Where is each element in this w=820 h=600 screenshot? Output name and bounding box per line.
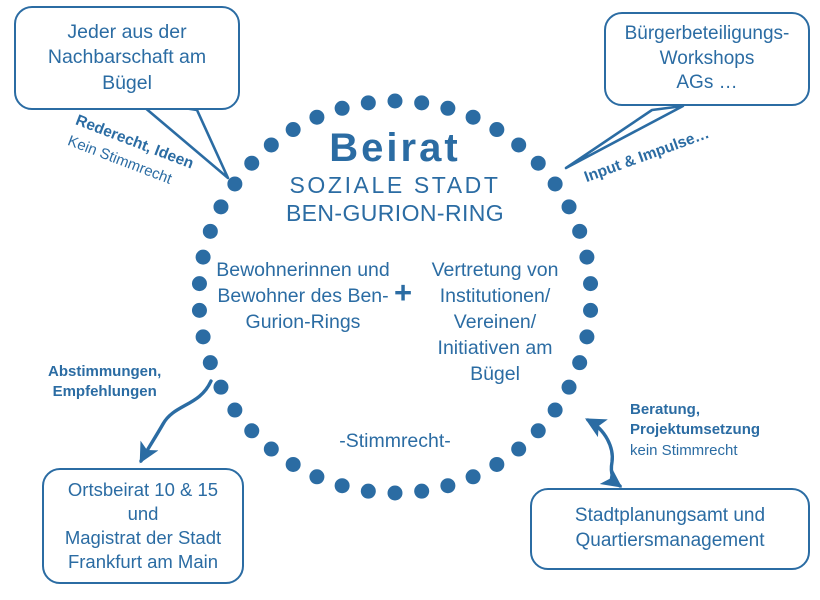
bubble-ortsbeirat-line3: Magistrat der Stadt xyxy=(65,526,221,550)
bubble-stadtplanungsamt[interactable]: Stadtplanungsamt und Quartiersmanagement xyxy=(530,488,810,570)
circle-dot xyxy=(361,95,376,110)
bubble-ortsbeirat-line4: Frankfurt am Main xyxy=(68,550,218,574)
circle-dot xyxy=(203,224,218,239)
annotation-abstimmungen: Abstimmungen, Empfehlungen xyxy=(48,362,161,403)
bubble-participation-line2: Workshops xyxy=(660,47,755,72)
circle-dot xyxy=(203,355,218,370)
page-subtitle-secondary: BEN-GURION-RING xyxy=(230,200,560,227)
members-institutions-line2: von xyxy=(527,259,558,281)
circle-dot xyxy=(531,423,546,438)
circle-dot xyxy=(335,478,350,493)
circle-dot xyxy=(361,484,376,499)
bubble-participation-line1: Bürgerbeteiligungs- xyxy=(625,22,790,47)
page-title: Beirat xyxy=(230,126,560,171)
annotation-abstimmungen-line2: Empfehlungen xyxy=(53,383,157,400)
circle-dot xyxy=(583,303,598,318)
plus-icon: + xyxy=(386,275,420,311)
circle-dot xyxy=(489,457,504,472)
page-subtitle: SOZIALE STADT xyxy=(230,172,560,199)
arrow-beratung xyxy=(588,420,620,486)
circle-dot xyxy=(466,110,481,125)
circle-dot xyxy=(192,303,207,318)
circle-dot xyxy=(414,484,429,499)
bubble-participation[interactable]: Bürgerbeteiligungs- Workshops AGs … xyxy=(604,12,810,106)
annotation-abstimmungen-line1: Abstimmungen, xyxy=(48,363,161,380)
circle-dot xyxy=(309,110,324,125)
members-institutions-column: Vertretung von Institutionen/ Vereinen/ … xyxy=(420,258,570,388)
annotation-beratung-strong1: Beratung, xyxy=(630,400,760,420)
circle-dot xyxy=(335,101,350,116)
bubble-neighbourhood[interactable]: Jeder aus der Nachbarschaft am Bügel xyxy=(14,6,240,110)
bubble-neighbourhood-line3: Bügel xyxy=(102,71,152,96)
circle-dot xyxy=(548,403,563,418)
circle-dot xyxy=(286,457,301,472)
circle-dot xyxy=(414,95,429,110)
annotation-beratung: Beratung, Projektumsetzung kein Stimmrec… xyxy=(630,400,760,461)
circle-dot xyxy=(440,478,455,493)
circle-dot xyxy=(511,442,526,457)
annotation-input-impulse: Input & Impulse… xyxy=(582,125,712,187)
circle-dot xyxy=(264,442,279,457)
bubble-ortsbeirat-line2: und xyxy=(128,502,159,526)
annotation-rederecht: Rederecht, Ideen Kein Stimmrecht xyxy=(64,110,196,196)
circle-dot xyxy=(466,469,481,484)
circle-dot xyxy=(579,250,594,265)
bubble-ortsbeirat[interactable]: Ortsbeirat 10 & 15 und Magistrat der Sta… xyxy=(42,468,244,584)
members-institutions-line1: Vertretung xyxy=(432,259,522,281)
circle-dot xyxy=(583,276,598,291)
members-residents-column: Bewohnerinnen und Bewohner des Ben-Gurio… xyxy=(208,258,398,336)
circle-dot xyxy=(572,355,587,370)
bubble-neighbourhood-line1: Jeder aus der xyxy=(67,20,186,45)
bubble-stadtplanungsamt-line2: Quartiersmanagement xyxy=(575,529,764,554)
circle-dot xyxy=(213,199,228,214)
bubble-participation-line3: AGs … xyxy=(676,71,737,96)
circle-dot xyxy=(227,403,242,418)
circle-dot xyxy=(388,94,403,109)
members-residents-line3: des xyxy=(311,285,342,307)
circle-dot xyxy=(440,101,455,116)
members-institutions-line3: Institutionen/ xyxy=(440,285,551,307)
bubble-neighbourhood-line2: Nachbarschaft am xyxy=(48,45,206,70)
bubble-ortsbeirat-line1: Ortsbeirat 10 & 15 xyxy=(68,478,218,502)
diagram-canvas: Jeder aus der Nachbarschaft am Bügel Bür… xyxy=(0,0,820,600)
circle-dot xyxy=(572,224,587,239)
circle-dot xyxy=(579,329,594,344)
circle-dot xyxy=(562,199,577,214)
circle-dot xyxy=(244,423,259,438)
members-institutions-line5: Initiativen xyxy=(438,337,520,359)
voting-rights-label: -Stimmrecht- xyxy=(285,430,505,453)
members-institutions-line4: Vereinen/ xyxy=(454,311,536,333)
circle-dot xyxy=(309,469,324,484)
annotation-beratung-plain: kein Stimmrecht xyxy=(630,441,760,461)
circle-dot xyxy=(213,380,228,395)
members-residents-line1: Bewohnerinnen xyxy=(216,259,352,281)
circle-dot xyxy=(192,276,207,291)
bubble-stadtplanungsamt-line1: Stadtplanungsamt und xyxy=(575,504,765,529)
circle-dot xyxy=(388,486,403,501)
annotation-beratung-strong2: Projektumsetzung xyxy=(630,420,760,440)
